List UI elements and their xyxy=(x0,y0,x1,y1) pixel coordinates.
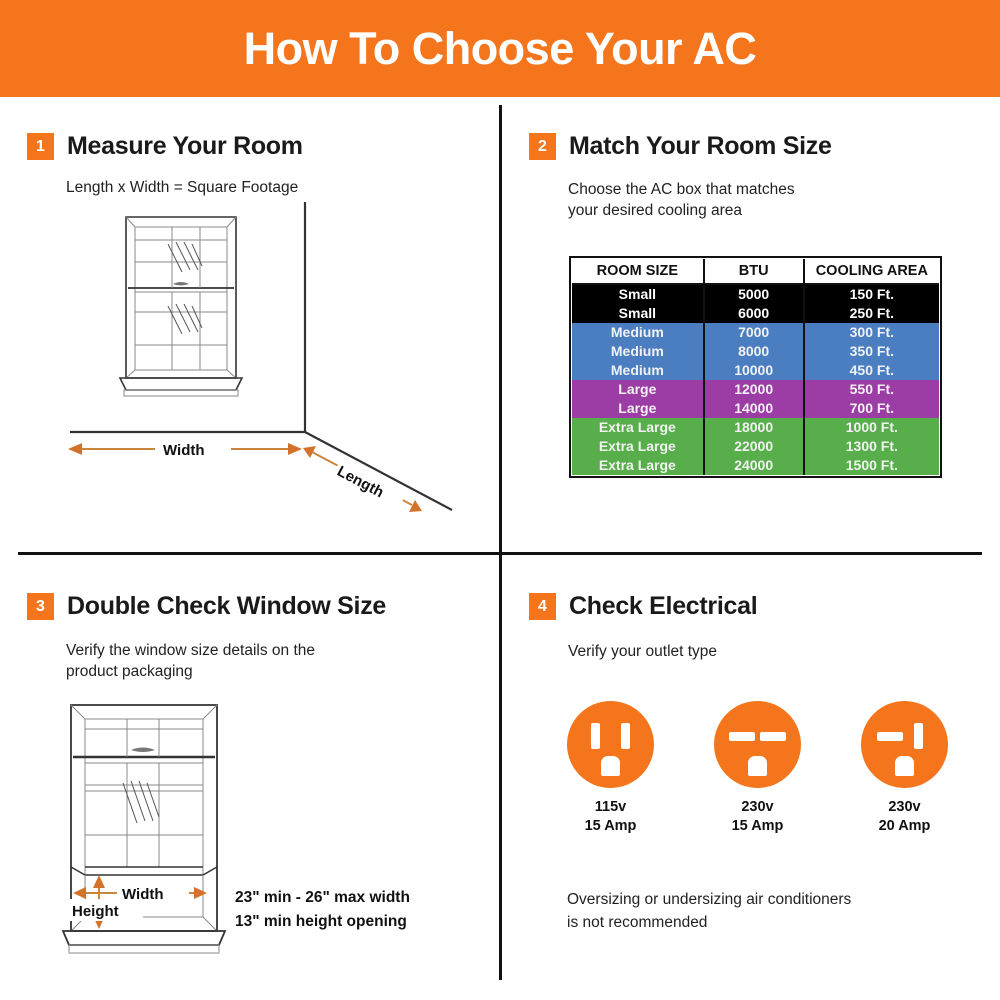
window-height-label: Height xyxy=(72,903,119,920)
note-line-2: is not recommended xyxy=(567,911,967,934)
cell-room-size: Large xyxy=(572,380,704,399)
step-3-title: Double Check Window Size xyxy=(67,593,386,620)
table-row: Extra Large220001300 Ft. xyxy=(572,437,939,456)
step-1-title: Measure Your Room xyxy=(67,133,303,160)
outlet-one-horizontal-one-vertical-slot-icon xyxy=(861,701,948,788)
cell-room-size: Small xyxy=(572,304,704,323)
width-dimension-arrow: Width xyxy=(68,438,302,460)
table-header-row: ROOM SIZE BTU COOLING AREA xyxy=(572,259,939,284)
step-1-heading: 1 Measure Your Room xyxy=(27,133,303,160)
table-row: Small5000150 Ft. xyxy=(572,284,939,304)
cell-cooling-area: 1500 Ft. xyxy=(804,456,939,475)
cell-room-size: Large xyxy=(572,399,704,418)
cell-room-size: Extra Large xyxy=(572,456,704,475)
sizing-recommendation-note: Oversizing or undersizing air conditione… xyxy=(567,888,967,934)
cell-cooling-area: 1300 Ft. xyxy=(804,437,939,456)
outlet-voltage-2: 230v xyxy=(714,798,801,817)
cell-room-size: Medium xyxy=(572,323,704,342)
table-row: Extra Large240001500 Ft. xyxy=(572,456,939,475)
step-3-heading: 3 Double Check Window Size xyxy=(27,593,386,620)
step-3-panel: 3 Double Check Window Size Verify the wi… xyxy=(0,556,499,1000)
outlet-voltage-1: 115v xyxy=(567,798,654,817)
outlet-amperage-2: 15 Amp xyxy=(714,817,801,836)
outlet-option-230v-20amp[interactable]: 230v 20 Amp xyxy=(861,701,948,836)
step-2-subtitle-line-1: Choose the AC box that matches xyxy=(568,179,795,200)
step-3-subtitle-line-2: product packaging xyxy=(66,661,193,682)
dims-line-1: 23" min - 26" max width xyxy=(235,886,410,910)
column-header-btu: BTU xyxy=(704,259,804,284)
step-2-title: Match Your Room Size xyxy=(569,133,832,160)
table-row: Medium7000300 Ft. xyxy=(572,323,939,342)
width-label: Width xyxy=(163,442,205,459)
outlet-two-vertical-slots-icon xyxy=(567,701,654,788)
step-1-subtitle: Length x Width = Square Footage xyxy=(66,177,298,198)
table-row: Small6000250 Ft. xyxy=(572,304,939,323)
window-illustration xyxy=(120,217,242,396)
table-row: Large12000550 Ft. xyxy=(572,380,939,399)
cell-btu: 8000 xyxy=(704,342,804,361)
step-4-title: Check Electrical xyxy=(569,593,757,620)
cell-btu: 18000 xyxy=(704,418,804,437)
cell-cooling-area: 450 Ft. xyxy=(804,361,939,380)
cell-room-size: Extra Large xyxy=(572,437,704,456)
step-2-subtitle-line-2: your desired cooling area xyxy=(568,200,742,221)
length-dimension-arrow: Length xyxy=(303,446,422,512)
cell-btu: 22000 xyxy=(704,437,804,456)
column-header-cooling-area: COOLING AREA xyxy=(804,259,939,284)
infographic-page: How To Choose Your AC 1 Measure Your Roo… xyxy=(0,0,1000,1000)
cell-room-size: Small xyxy=(572,284,704,304)
btu-room-size-table: ROOM SIZE BTU COOLING AREA Small5000150 … xyxy=(569,256,942,478)
step-2-badge: 2 xyxy=(529,133,556,160)
cell-btu: 24000 xyxy=(704,456,804,475)
cell-cooling-area: 300 Ft. xyxy=(804,323,939,342)
outlet-type-list: 115v 15 Amp 230v 15 Amp xyxy=(567,701,967,836)
table-row: Medium10000450 Ft. xyxy=(572,361,939,380)
column-header-room-size: ROOM SIZE xyxy=(572,259,704,284)
outlet-voltage-3: 230v xyxy=(861,798,948,817)
cell-cooling-area: 350 Ft. xyxy=(804,342,939,361)
table-row: Medium8000350 Ft. xyxy=(572,342,939,361)
cell-btu: 10000 xyxy=(704,361,804,380)
cell-cooling-area: 250 Ft. xyxy=(804,304,939,323)
outlet-amperage-1: 15 Amp xyxy=(567,817,654,836)
outlet-amperage-3: 20 Amp xyxy=(861,817,948,836)
cell-cooling-area: 1000 Ft. xyxy=(804,418,939,437)
step-1-badge: 1 xyxy=(27,133,54,160)
cell-btu: 12000 xyxy=(704,380,804,399)
step-1-panel: 1 Measure Your Room Length x Width = Squ… xyxy=(0,105,499,553)
table-row: Large14000700 Ft. xyxy=(572,399,939,418)
step-4-panel: 4 Check Electrical Verify your outlet ty… xyxy=(502,556,1000,1000)
cell-room-size: Extra Large xyxy=(572,418,704,437)
page-title: How To Choose Your AC xyxy=(244,26,757,71)
step-2-panel: 2 Match Your Room Size Choose the AC box… xyxy=(502,105,1000,553)
table-row: Extra Large180001000 Ft. xyxy=(572,418,939,437)
cell-room-size: Medium xyxy=(572,361,704,380)
step-4-heading: 4 Check Electrical xyxy=(529,593,757,620)
step-2-heading: 2 Match Your Room Size xyxy=(529,133,832,160)
note-line-1: Oversizing or undersizing air conditione… xyxy=(567,888,967,911)
cell-room-size: Medium xyxy=(572,342,704,361)
outlet-two-horizontal-slots-icon xyxy=(714,701,801,788)
step-3-badge: 3 xyxy=(27,593,54,620)
step-3-subtitle-line-1: Verify the window size details on the xyxy=(66,640,315,661)
dims-line-2: 13" min height opening xyxy=(235,910,410,934)
cell-btu: 14000 xyxy=(704,399,804,418)
outlet-option-115v-15amp[interactable]: 115v 15 Amp xyxy=(567,701,654,836)
cell-btu: 5000 xyxy=(704,284,804,304)
cell-btu: 7000 xyxy=(704,323,804,342)
step-4-badge: 4 xyxy=(529,593,556,620)
step-4-subtitle: Verify your outlet type xyxy=(568,641,717,662)
cell-cooling-area: 150 Ft. xyxy=(804,284,939,304)
page-header: How To Choose Your AC xyxy=(0,0,1000,97)
outlet-option-230v-15amp[interactable]: 230v 15 Amp xyxy=(714,701,801,836)
window-dimension-requirements: 23" min - 26" max width 13" min height o… xyxy=(235,886,410,934)
cell-cooling-area: 550 Ft. xyxy=(804,380,939,399)
cell-btu: 6000 xyxy=(704,304,804,323)
room-measurement-diagram: Width Length xyxy=(60,200,480,530)
cell-cooling-area: 700 Ft. xyxy=(804,399,939,418)
